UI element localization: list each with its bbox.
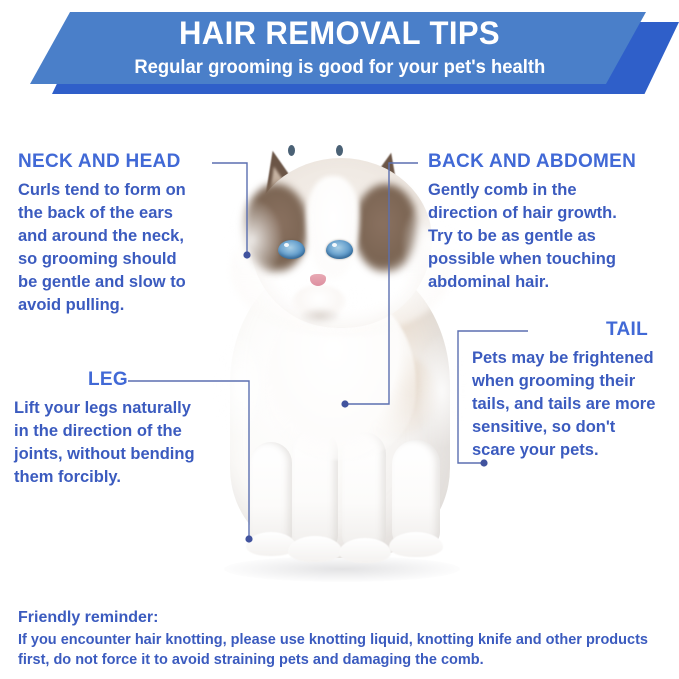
header-banner: HAIR REMOVAL TIPS Regular grooming is go…: [0, 0, 679, 100]
callout-back-and-abdomen-body: Gently comb in the direction of hair gro…: [428, 179, 678, 294]
cat-chin-shadow: [300, 308, 340, 324]
callout-neck-and-head-title: NECK AND HEAD: [18, 150, 238, 174]
cat-fur-wisp-lower-right: [416, 335, 468, 447]
cat-back-right-paw: [389, 532, 443, 557]
callout-neck-and-head: NECK AND HEAD Curls tend to form on the …: [18, 150, 238, 317]
callout-leg-body: Lift your legs naturally in the directio…: [14, 397, 234, 489]
callout-back-and-abdomen-title: BACK AND ABDOMEN: [428, 150, 678, 174]
footer-note-body: If you encounter hair knotting, please u…: [18, 630, 663, 670]
footer-note-title: Friendly reminder:: [18, 607, 663, 629]
banner-main-layer: [30, 12, 646, 84]
callout-tail-body: Pets may be frightened when grooming the…: [472, 347, 678, 462]
callout-leg: LEG Lift your legs naturally in the dire…: [14, 368, 234, 489]
cat-right-eye: [326, 240, 353, 259]
callout-back-and-abdomen: BACK AND ABDOMEN Gently comb in the dire…: [428, 150, 678, 294]
callout-neck-and-head-body: Curls tend to form on the back of the ea…: [18, 179, 238, 317]
footer-note: Friendly reminder: If you encounter hair…: [18, 607, 663, 670]
callout-leg-title: LEG: [14, 368, 234, 392]
cat-front-left-paw: [288, 536, 342, 562]
callout-tail-title: TAIL: [472, 318, 678, 342]
cat-left-pupil: [288, 145, 295, 156]
cat-right-eye-glint: [332, 243, 337, 247]
cat-left-eye-glint: [284, 243, 289, 247]
cat-right-pupil: [336, 145, 343, 156]
cat-ground-shadow: [224, 556, 460, 582]
cat-left-eye: [278, 240, 305, 259]
cat-front-right-paw: [339, 538, 391, 563]
callout-tail: TAIL Pets may be frightened when groomin…: [472, 318, 678, 462]
